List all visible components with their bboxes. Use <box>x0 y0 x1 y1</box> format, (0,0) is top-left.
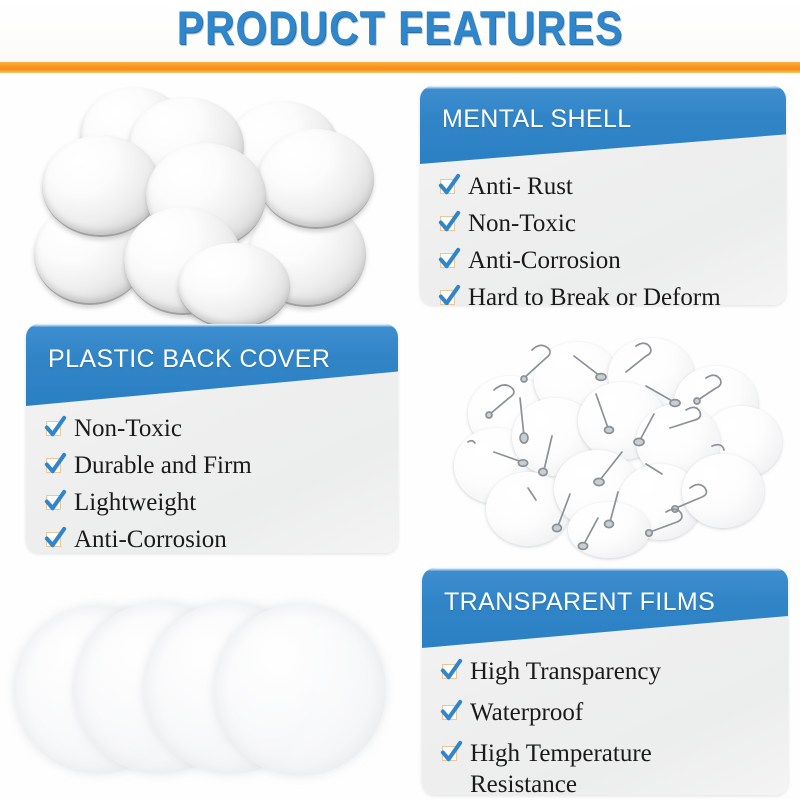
check-icon <box>46 495 61 510</box>
feature-label: Anti-Corrosion <box>74 521 398 553</box>
card-title-plastic-back-cover: PLASTIC BACK COVER <box>48 345 330 374</box>
check-icon <box>440 290 455 305</box>
feature-item: Lightweight <box>26 484 398 521</box>
check-icon <box>442 746 457 761</box>
title-divider-rule <box>0 62 800 73</box>
photo-metal-shells <box>20 75 410 320</box>
feature-item: Durable and Firm <box>26 447 398 484</box>
feature-label: Durable and Firm <box>74 447 398 484</box>
check-icon <box>46 421 61 436</box>
feature-item: Hard to Break or Deform <box>420 279 786 305</box>
check-icon <box>46 458 61 473</box>
card-title-mental-shell: MENTAL SHELL <box>442 105 632 134</box>
feature-list-plastic-back-cover: Non-Toxic Durable and Firm Lightweight A… <box>26 410 398 553</box>
feature-label: High Transparency <box>470 656 788 687</box>
feature-item: Anti-Corrosion <box>26 521 398 553</box>
feature-label: Lightweight <box>74 484 398 521</box>
feature-item: Waterproof <box>422 697 788 728</box>
transparent-film-disc <box>214 604 386 776</box>
photo-transparent-films <box>12 592 402 792</box>
card-title-transparent-films: TRANSPARENT FILMS <box>444 588 715 617</box>
feature-label: High Temperature Resistance <box>470 738 722 795</box>
feature-item: High Temperature Resistance <box>422 738 788 795</box>
header-sheen <box>420 86 786 89</box>
feature-label: Hard to Break or Deform <box>468 279 786 305</box>
header-sheen <box>422 568 788 571</box>
check-icon <box>440 253 455 268</box>
check-icon <box>442 664 457 679</box>
feature-item: Anti- Rust <box>420 168 786 205</box>
safety-pin-icon <box>450 332 790 560</box>
feature-label: Anti- Rust <box>468 168 786 205</box>
page-title: PRODUCT FEATURES <box>56 2 744 54</box>
feature-item: Non-Toxic <box>26 410 398 447</box>
feature-item: Non-Toxic <box>420 205 786 242</box>
metal-disc <box>178 243 290 329</box>
card-mental-shell: MENTAL SHELL Anti- Rust Non-Toxic Anti-C… <box>420 86 786 305</box>
feature-label: Non-Toxic <box>74 410 398 447</box>
feature-label: Waterproof <box>470 697 788 728</box>
check-icon <box>440 216 455 231</box>
feature-list-mental-shell: Anti- Rust Non-Toxic Anti-Corrosion Hard… <box>420 168 786 305</box>
check-icon <box>440 179 455 194</box>
feature-list-transparent-films: High Transparency Waterproof High Temper… <box>422 656 788 795</box>
feature-label: Non-Toxic <box>468 205 786 242</box>
header-sheen <box>26 324 398 327</box>
photo-back-covers <box>450 332 790 560</box>
check-icon <box>442 705 457 720</box>
card-plastic-back-cover: PLASTIC BACK COVER Non-Toxic Durable and… <box>26 324 398 553</box>
check-icon <box>46 532 61 547</box>
feature-item: High Transparency <box>422 656 788 687</box>
feature-label: Anti-Corrosion <box>468 242 786 279</box>
card-transparent-films: TRANSPARENT FILMS High Transparency Wate… <box>422 568 788 795</box>
feature-item: Anti-Corrosion <box>420 242 786 279</box>
metal-disc <box>258 129 374 229</box>
